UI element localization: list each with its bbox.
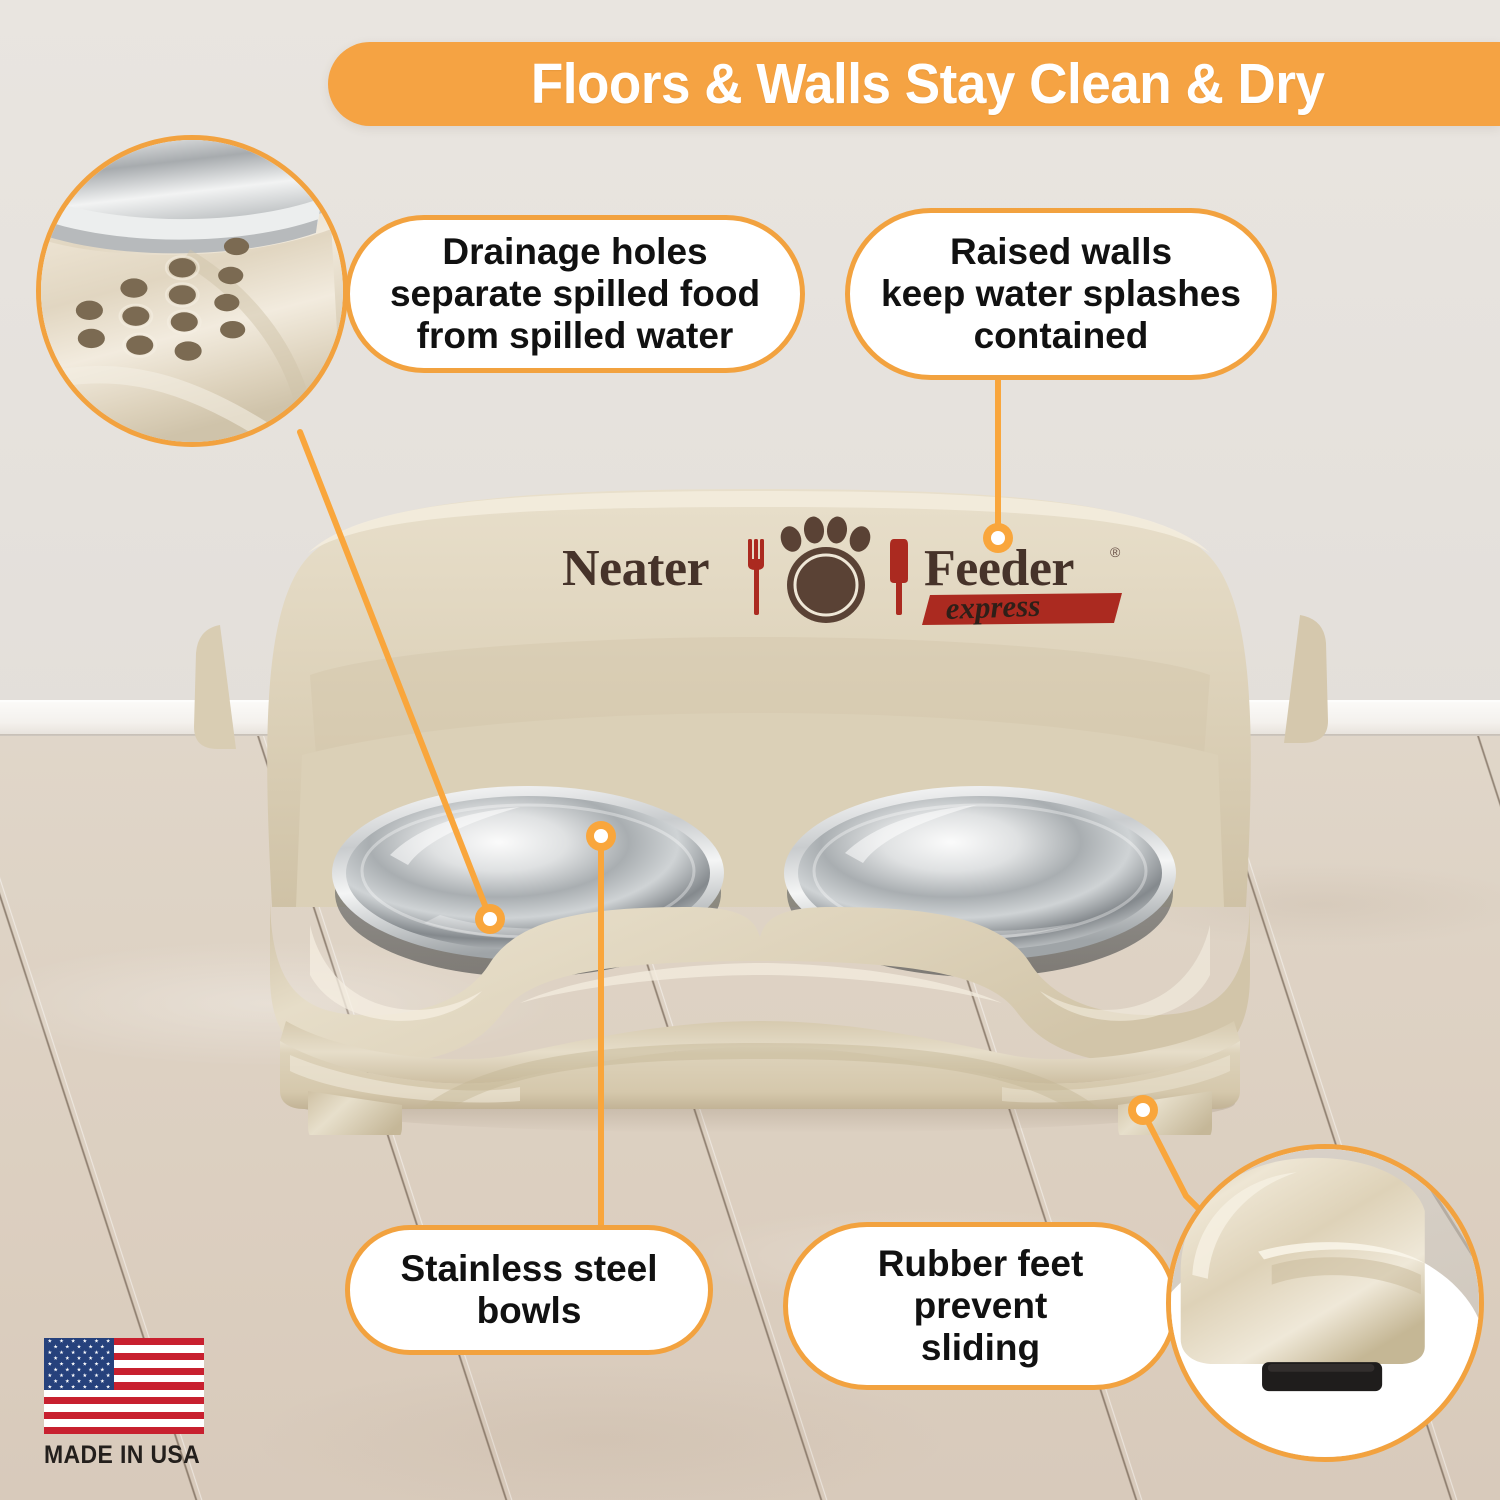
flag-star — [53, 1356, 57, 1360]
flag-star — [100, 1379, 104, 1383]
made-in-usa-label: MADE IN USA — [44, 1441, 210, 1470]
flag-star — [106, 1385, 110, 1389]
rubber-foot-zoom-inset — [1166, 1144, 1484, 1462]
flag-stripe — [44, 1427, 204, 1434]
callout-line: Raised walls — [867, 231, 1255, 273]
flag-star — [71, 1373, 75, 1377]
flag-star — [71, 1362, 75, 1366]
flag-star — [106, 1362, 110, 1366]
callout-raised-walls: Raised walls keep water splashes contain… — [845, 208, 1277, 380]
callout-line: separate spilled food — [376, 273, 774, 315]
flag-star — [88, 1367, 92, 1371]
flag-star — [94, 1362, 98, 1366]
callout-line: contained — [867, 315, 1255, 357]
drainage-holes-zoom-inset — [36, 135, 348, 447]
flag-star — [65, 1356, 69, 1360]
product-pet-feeder: Neater — [190, 455, 1330, 1135]
flag-star — [77, 1356, 81, 1360]
flag-star — [100, 1367, 104, 1371]
flag-star — [83, 1339, 87, 1343]
flag-star — [59, 1362, 63, 1366]
callout-line: from spilled water — [376, 315, 774, 357]
flag-star — [77, 1344, 81, 1348]
flag-star — [71, 1350, 75, 1354]
flag-star — [88, 1356, 92, 1360]
callout-drainage-holes: Drainage holes separate spilled food fro… — [345, 215, 805, 373]
flag-star — [88, 1379, 92, 1383]
page-title: Floors & Walls Stay Clean & Dry — [503, 51, 1325, 117]
flag-star — [59, 1373, 63, 1377]
svg-text:express: express — [945, 588, 1041, 626]
flag-star — [106, 1373, 110, 1377]
callout-line: sliding — [864, 1327, 1098, 1369]
flag-star — [48, 1373, 52, 1377]
flag-star — [83, 1373, 87, 1377]
us-flag-icon — [44, 1338, 204, 1434]
made-in-usa-badge: MADE IN USA — [44, 1338, 224, 1470]
flag-star — [83, 1350, 87, 1354]
callout-line: prevent — [864, 1285, 1098, 1327]
flag-star — [53, 1379, 57, 1383]
flag-star — [83, 1362, 87, 1366]
svg-text:®: ® — [1110, 544, 1121, 560]
callout-line: Rubber feet — [864, 1243, 1098, 1285]
infographic-canvas: Neater — [0, 0, 1500, 1500]
callout-line: Stainless steel — [386, 1248, 671, 1290]
flag-star — [94, 1385, 98, 1389]
flag-star — [83, 1385, 87, 1389]
flag-star — [53, 1367, 57, 1371]
flag-star — [53, 1344, 57, 1348]
callout-line: bowls — [386, 1290, 671, 1332]
flag-star — [48, 1362, 52, 1366]
flag-star — [106, 1339, 110, 1343]
header-banner: Floors & Walls Stay Clean & Dry — [328, 42, 1500, 126]
flag-star — [71, 1339, 75, 1343]
flag-star — [94, 1373, 98, 1377]
flag-star — [48, 1350, 52, 1354]
flag-star — [77, 1379, 81, 1383]
flag-star — [100, 1356, 104, 1360]
flag-star — [100, 1344, 104, 1348]
flag-stripe — [44, 1412, 204, 1419]
flag-star — [48, 1385, 52, 1389]
svg-text:Neater: Neater — [562, 540, 709, 597]
callout-line: keep water splashes — [867, 273, 1255, 315]
flag-star — [71, 1385, 75, 1389]
flag-star — [59, 1350, 63, 1354]
flag-star — [65, 1367, 69, 1371]
flag-canton — [44, 1338, 114, 1390]
flag-star — [65, 1379, 69, 1383]
flag-star — [94, 1339, 98, 1343]
flag-star — [59, 1339, 63, 1343]
flag-star — [77, 1367, 81, 1371]
callout-stainless-steel-bowls: Stainless steel bowls — [345, 1225, 713, 1355]
flag-star — [106, 1350, 110, 1354]
callout-rubber-feet: Rubber feet prevent sliding — [783, 1222, 1178, 1390]
flag-star — [94, 1350, 98, 1354]
flag-star — [59, 1385, 63, 1389]
flag-star — [88, 1344, 92, 1348]
flag-star — [48, 1339, 52, 1343]
callout-line: Drainage holes — [376, 231, 774, 273]
flag-star — [65, 1344, 69, 1348]
flag-stripe — [44, 1397, 204, 1404]
